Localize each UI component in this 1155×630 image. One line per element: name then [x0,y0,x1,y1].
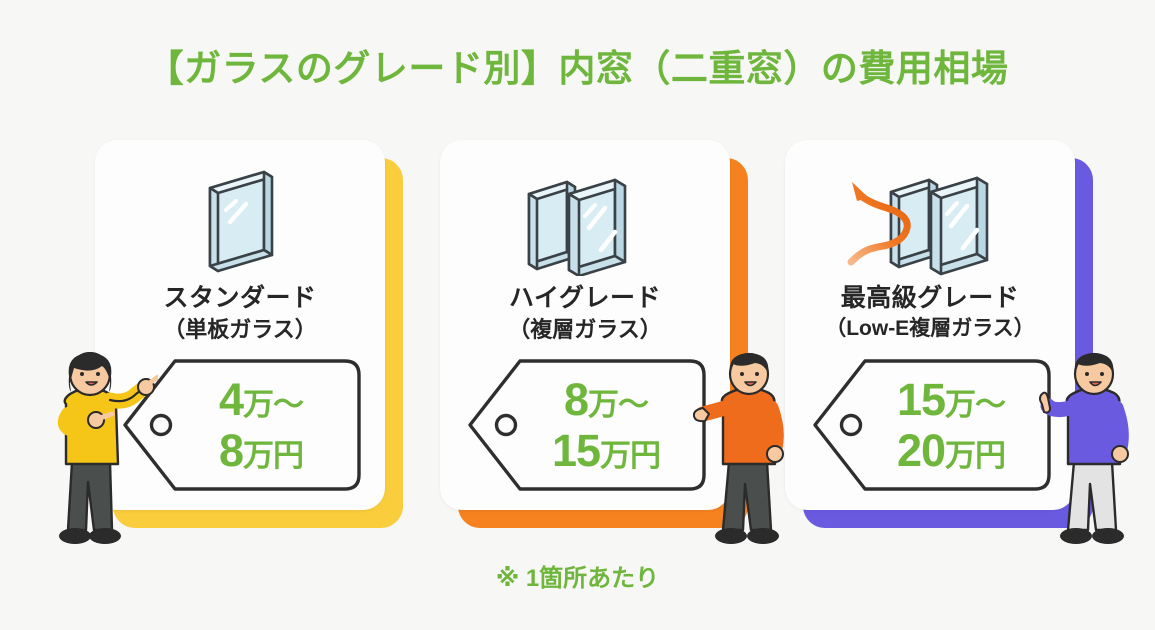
price-tag: 15万〜 20万円 [807,355,1055,495]
price-line-to: 20万円 [897,428,1005,473]
double-pane-glass-icon [440,158,730,276]
card-subtitle: （単板ガラス） [95,312,385,344]
card-title: 最高級グレード [785,278,1075,314]
card-subtitle: （複層ガラス） [440,312,730,344]
low-e-double-pane-glass-icon [785,158,1075,276]
price-unit-from: 万〜 [243,387,303,422]
price-unit-to: 万円 [600,438,660,473]
card-title: スタンダード [95,278,385,314]
card-title: ハイグレード [440,278,730,314]
price-line-to: 8万円 [219,428,303,473]
price-tag: 8万〜 15万円 [462,355,710,495]
price-unit-from: 万〜 [945,387,1005,422]
page-title: 【ガラスのグレード別】内窓（二重窓）の費用相場 [0,38,1155,92]
price-unit-to: 万円 [243,438,303,473]
price-value-to: 8 [219,425,243,476]
single-pane-glass-icon [95,158,385,276]
price-value-from: 4 [219,374,243,425]
grade-cards-container: スタンダード （単板ガラス） 4万〜 8万円 [0,140,1155,540]
price-value-to: 15 [552,425,600,476]
price-line-to: 15万円 [552,428,660,473]
price-unit-to: 万円 [945,438,1005,473]
price-tag-text: 8万〜 15万円 [506,355,706,495]
price-tag-text: 15万〜 20万円 [851,355,1051,495]
grade-card-high[interactable]: ハイグレード （複層ガラス） 8万〜 15万円 [440,140,730,510]
grade-card-premium[interactable]: 最高級グレード （Low-E複層ガラス） 15万〜 20万円 [785,140,1075,510]
footnote: ※ 1箇所あたり [0,558,1155,593]
price-tag-text: 4万〜 8万円 [161,355,361,495]
price-unit-from: 万〜 [588,387,648,422]
price-line-from: 8万〜 [564,377,648,422]
price-line-from: 4万〜 [219,377,303,422]
price-line-from: 15万〜 [897,377,1005,422]
price-value-to: 20 [897,425,945,476]
price-value-from: 15 [897,374,945,425]
card-subtitle: （Low-E複層ガラス） [785,312,1075,342]
price-value-from: 8 [564,374,588,425]
